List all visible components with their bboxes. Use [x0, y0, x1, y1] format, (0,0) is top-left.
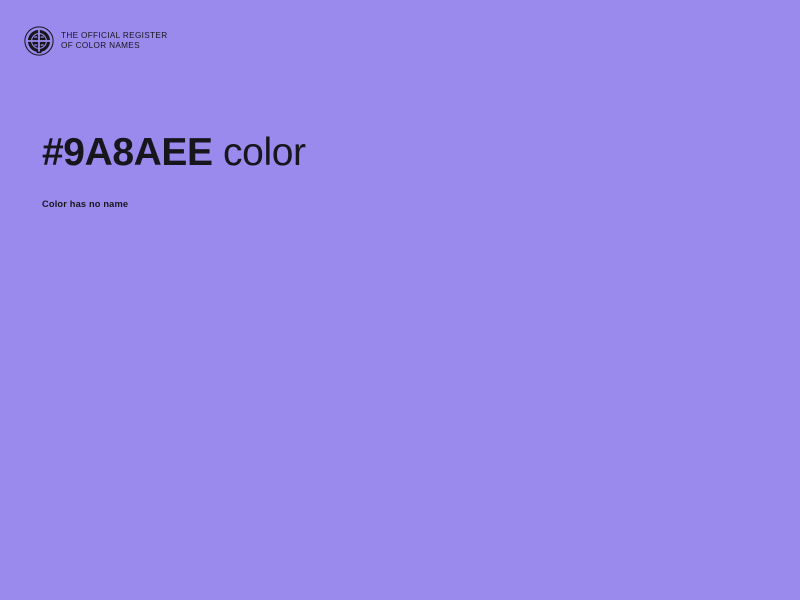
page-title-hex: #9A8AEE	[42, 131, 213, 174]
brand-line-2: OF COLOR NAMES	[61, 41, 167, 51]
brand-text: THE OFFICIAL REGISTER OF COLOR NAMES	[61, 31, 167, 50]
page-title: #9A8AEE color	[42, 130, 306, 176]
register-seal-icon	[24, 26, 54, 56]
color-name-status: Color has no name	[42, 199, 128, 209]
page-title-suffix: color	[213, 131, 306, 174]
color-page: THE OFFICIAL REGISTER OF COLOR NAMES #9A…	[0, 0, 800, 600]
brand-lockup[interactable]: THE OFFICIAL REGISTER OF COLOR NAMES	[24, 26, 167, 56]
brand-line-1: THE OFFICIAL REGISTER	[61, 31, 167, 41]
